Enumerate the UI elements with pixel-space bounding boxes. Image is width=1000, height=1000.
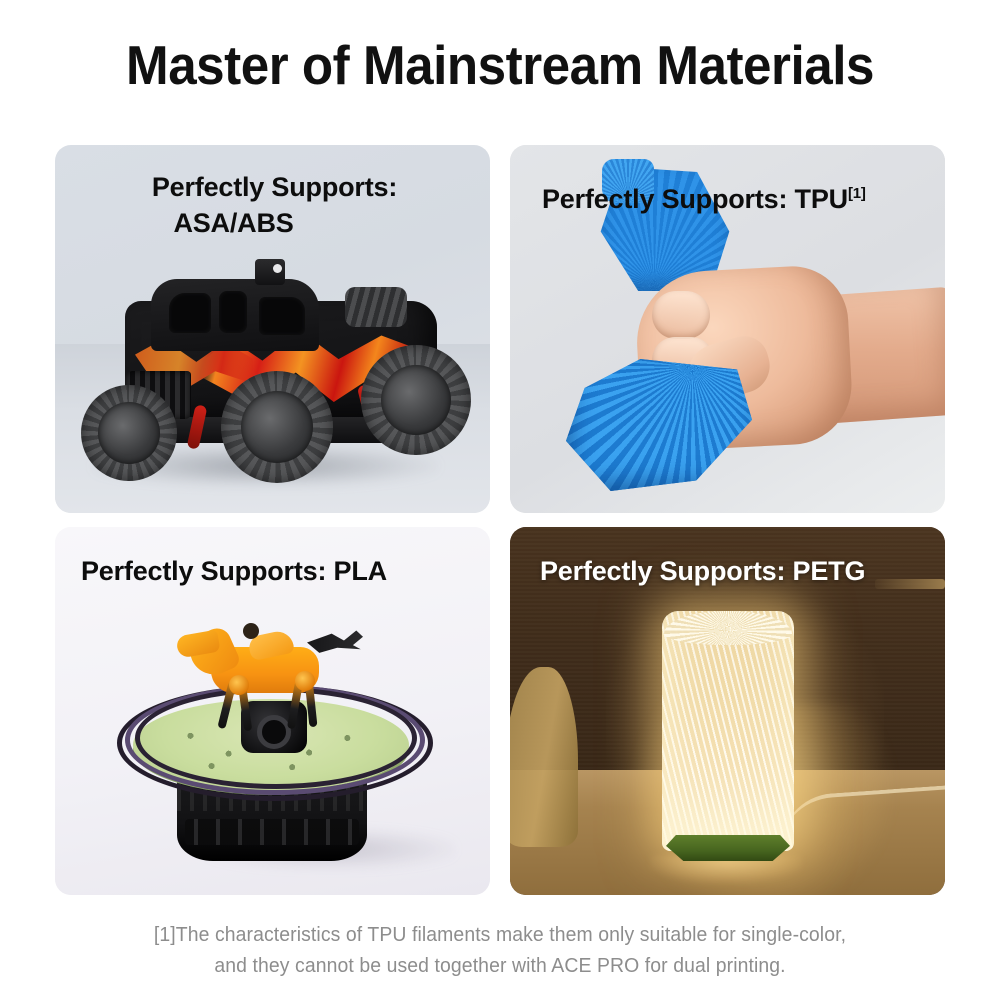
knuckle-index <box>652 291 710 339</box>
material-card-petg[interactable]: Perfectly Supports: PETG <box>510 527 945 895</box>
card-label-petg: Perfectly Supports: PETG <box>540 553 865 589</box>
lamp-shade <box>662 611 794 851</box>
footnote-line-1: [1]The characteristics of TPU filaments … <box>73 920 927 951</box>
rc-truck <box>73 253 473 483</box>
card-label-text: Perfectly Supports: TPU <box>542 184 848 214</box>
material-card-tpu[interactable]: Perfectly Supports: TPU[1] <box>510 145 945 513</box>
material-card-pla[interactable]: Perfectly Supports: PLA <box>55 527 490 895</box>
horse-joint-front <box>229 675 249 695</box>
spare-tire <box>345 287 407 327</box>
material-card-asa-abs[interactable]: Perfectly Supports: ASA/ABS <box>55 145 490 513</box>
tire-front-right <box>221 371 333 483</box>
cab-window-rear <box>259 297 305 335</box>
petg-lamp <box>662 611 794 861</box>
card-label-asa-abs: Perfectly Supports: ASA/ABS <box>55 169 490 241</box>
page-title: Master of Mainstream Materials <box>35 34 965 96</box>
card-label-line2: ASA/ABS <box>55 205 490 241</box>
card-label-pla: Perfectly Supports: PLA <box>81 553 387 589</box>
marketing-panel: Master of Mainstream Materials <box>0 0 1000 1000</box>
horse-joint-rear <box>295 671 315 691</box>
roof-camera-mount <box>255 259 285 285</box>
cab-window-mid <box>219 291 247 333</box>
card-label-line1: Perfectly Supports: <box>152 172 397 202</box>
tire-front-left <box>81 385 177 481</box>
rider-head <box>243 623 259 639</box>
drum-holes <box>185 819 359 845</box>
footnote-marker: [1] <box>848 185 866 202</box>
footnote-line-2: and they cannot be used together with AC… <box>73 951 927 982</box>
rider-figure <box>239 623 295 661</box>
horse-tail <box>307 629 363 655</box>
card-label-tpu: Perfectly Supports: TPU[1] <box>542 181 866 217</box>
wall-trim <box>875 579 945 589</box>
background-vase <box>510 667 578 847</box>
footnote: [1]The characteristics of TPU filaments … <box>73 920 927 982</box>
material-card-grid: Perfectly Supports: ASA/ABS Perfectly Su… <box>55 145 945 895</box>
lamp-base <box>666 835 790 861</box>
tire-rear-right <box>361 345 471 455</box>
horse-figure <box>185 621 365 717</box>
cab-window-front <box>169 293 211 333</box>
